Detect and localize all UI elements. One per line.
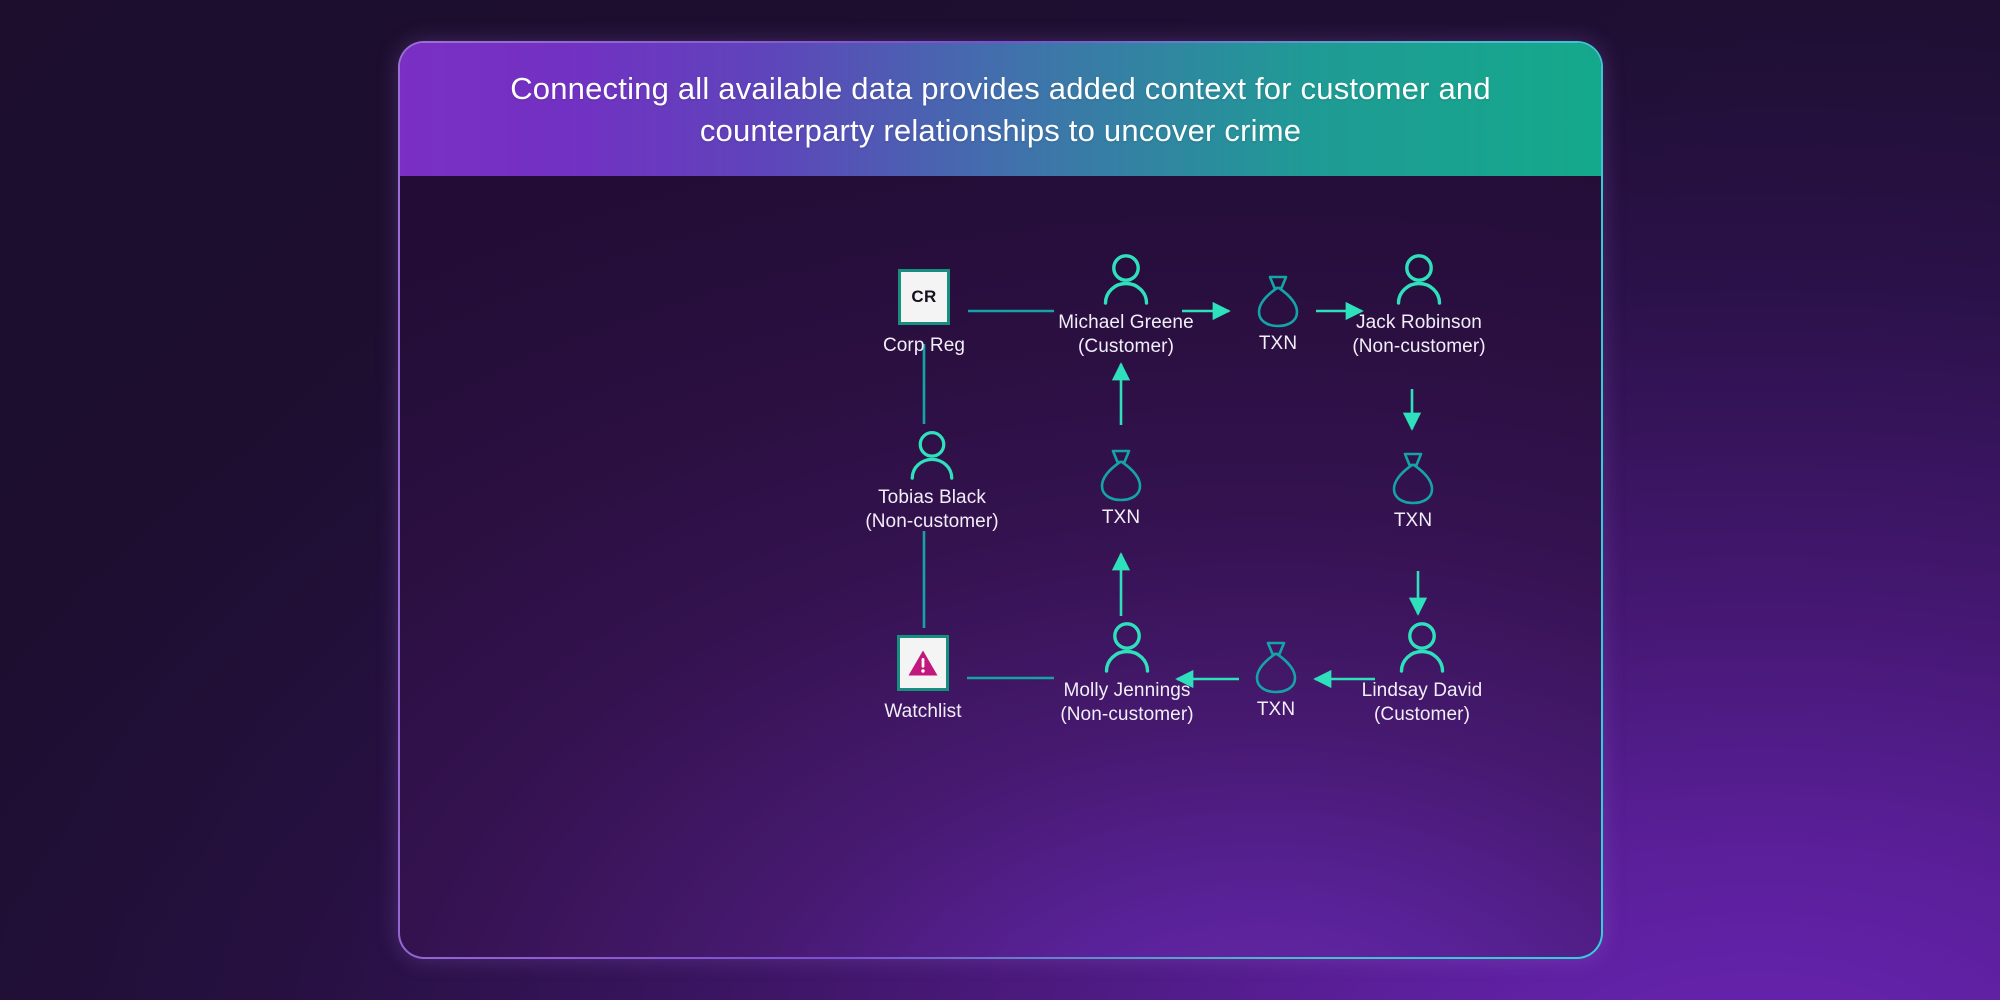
node-label: Corp Reg — [883, 334, 965, 358]
node-label: Watchlist — [884, 700, 961, 724]
person-icon — [1100, 620, 1154, 674]
diagram-card: Connecting all available data provides a… — [398, 41, 1603, 959]
watchlist-tile-icon — [897, 635, 949, 691]
node-txn-mid-right[interactable]: TXN — [1293, 451, 1533, 533]
node-lindsay-david[interactable]: Lindsay David (Customer) — [1302, 620, 1542, 727]
node-txn-mid-left[interactable]: TXN — [1001, 448, 1241, 530]
person-icon — [1099, 252, 1153, 306]
node-label: TXN — [1259, 332, 1297, 356]
card-header: Connecting all available data provides a… — [400, 43, 1601, 176]
node-label: Tobias Black (Non-customer) — [865, 486, 998, 534]
node-label: TXN — [1102, 506, 1140, 530]
node-label: Lindsay David (Customer) — [1362, 679, 1483, 727]
node-jack-robinson[interactable]: Jack Robinson (Non-customer) — [1299, 252, 1539, 359]
person-icon — [906, 429, 958, 481]
money-bag-icon — [1255, 274, 1301, 328]
node-label: TXN — [1257, 698, 1295, 722]
diagram-card-inner: Connecting all available data provides a… — [400, 43, 1601, 957]
corp-reg-tile-icon: CR — [898, 269, 950, 325]
money-bag-icon — [1253, 640, 1299, 694]
warning-triangle-icon — [907, 648, 939, 678]
node-label: TXN — [1394, 509, 1432, 533]
person-icon — [1395, 620, 1449, 674]
node-label: Jack Robinson (Non-customer) — [1352, 311, 1485, 359]
money-bag-icon — [1390, 451, 1436, 505]
money-bag-icon — [1098, 448, 1144, 502]
header-title: Connecting all available data provides a… — [460, 68, 1541, 152]
diagram-canvas: CR Corp Reg Michael Greene (Customer) — [400, 176, 1601, 957]
person-icon — [1392, 252, 1446, 306]
